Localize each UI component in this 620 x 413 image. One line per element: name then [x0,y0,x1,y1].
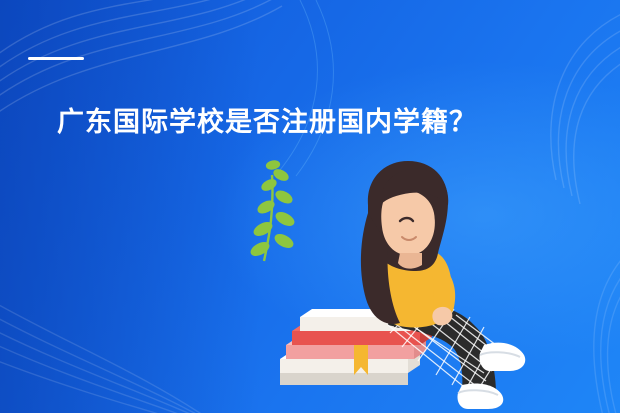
girl-sitting-on-books-illustration [240,113,620,413]
plant-icon [250,161,295,261]
title-underline-rule [28,57,84,60]
poster-canvas: 广东国际学校是否注册国内学籍？ [0,0,620,413]
